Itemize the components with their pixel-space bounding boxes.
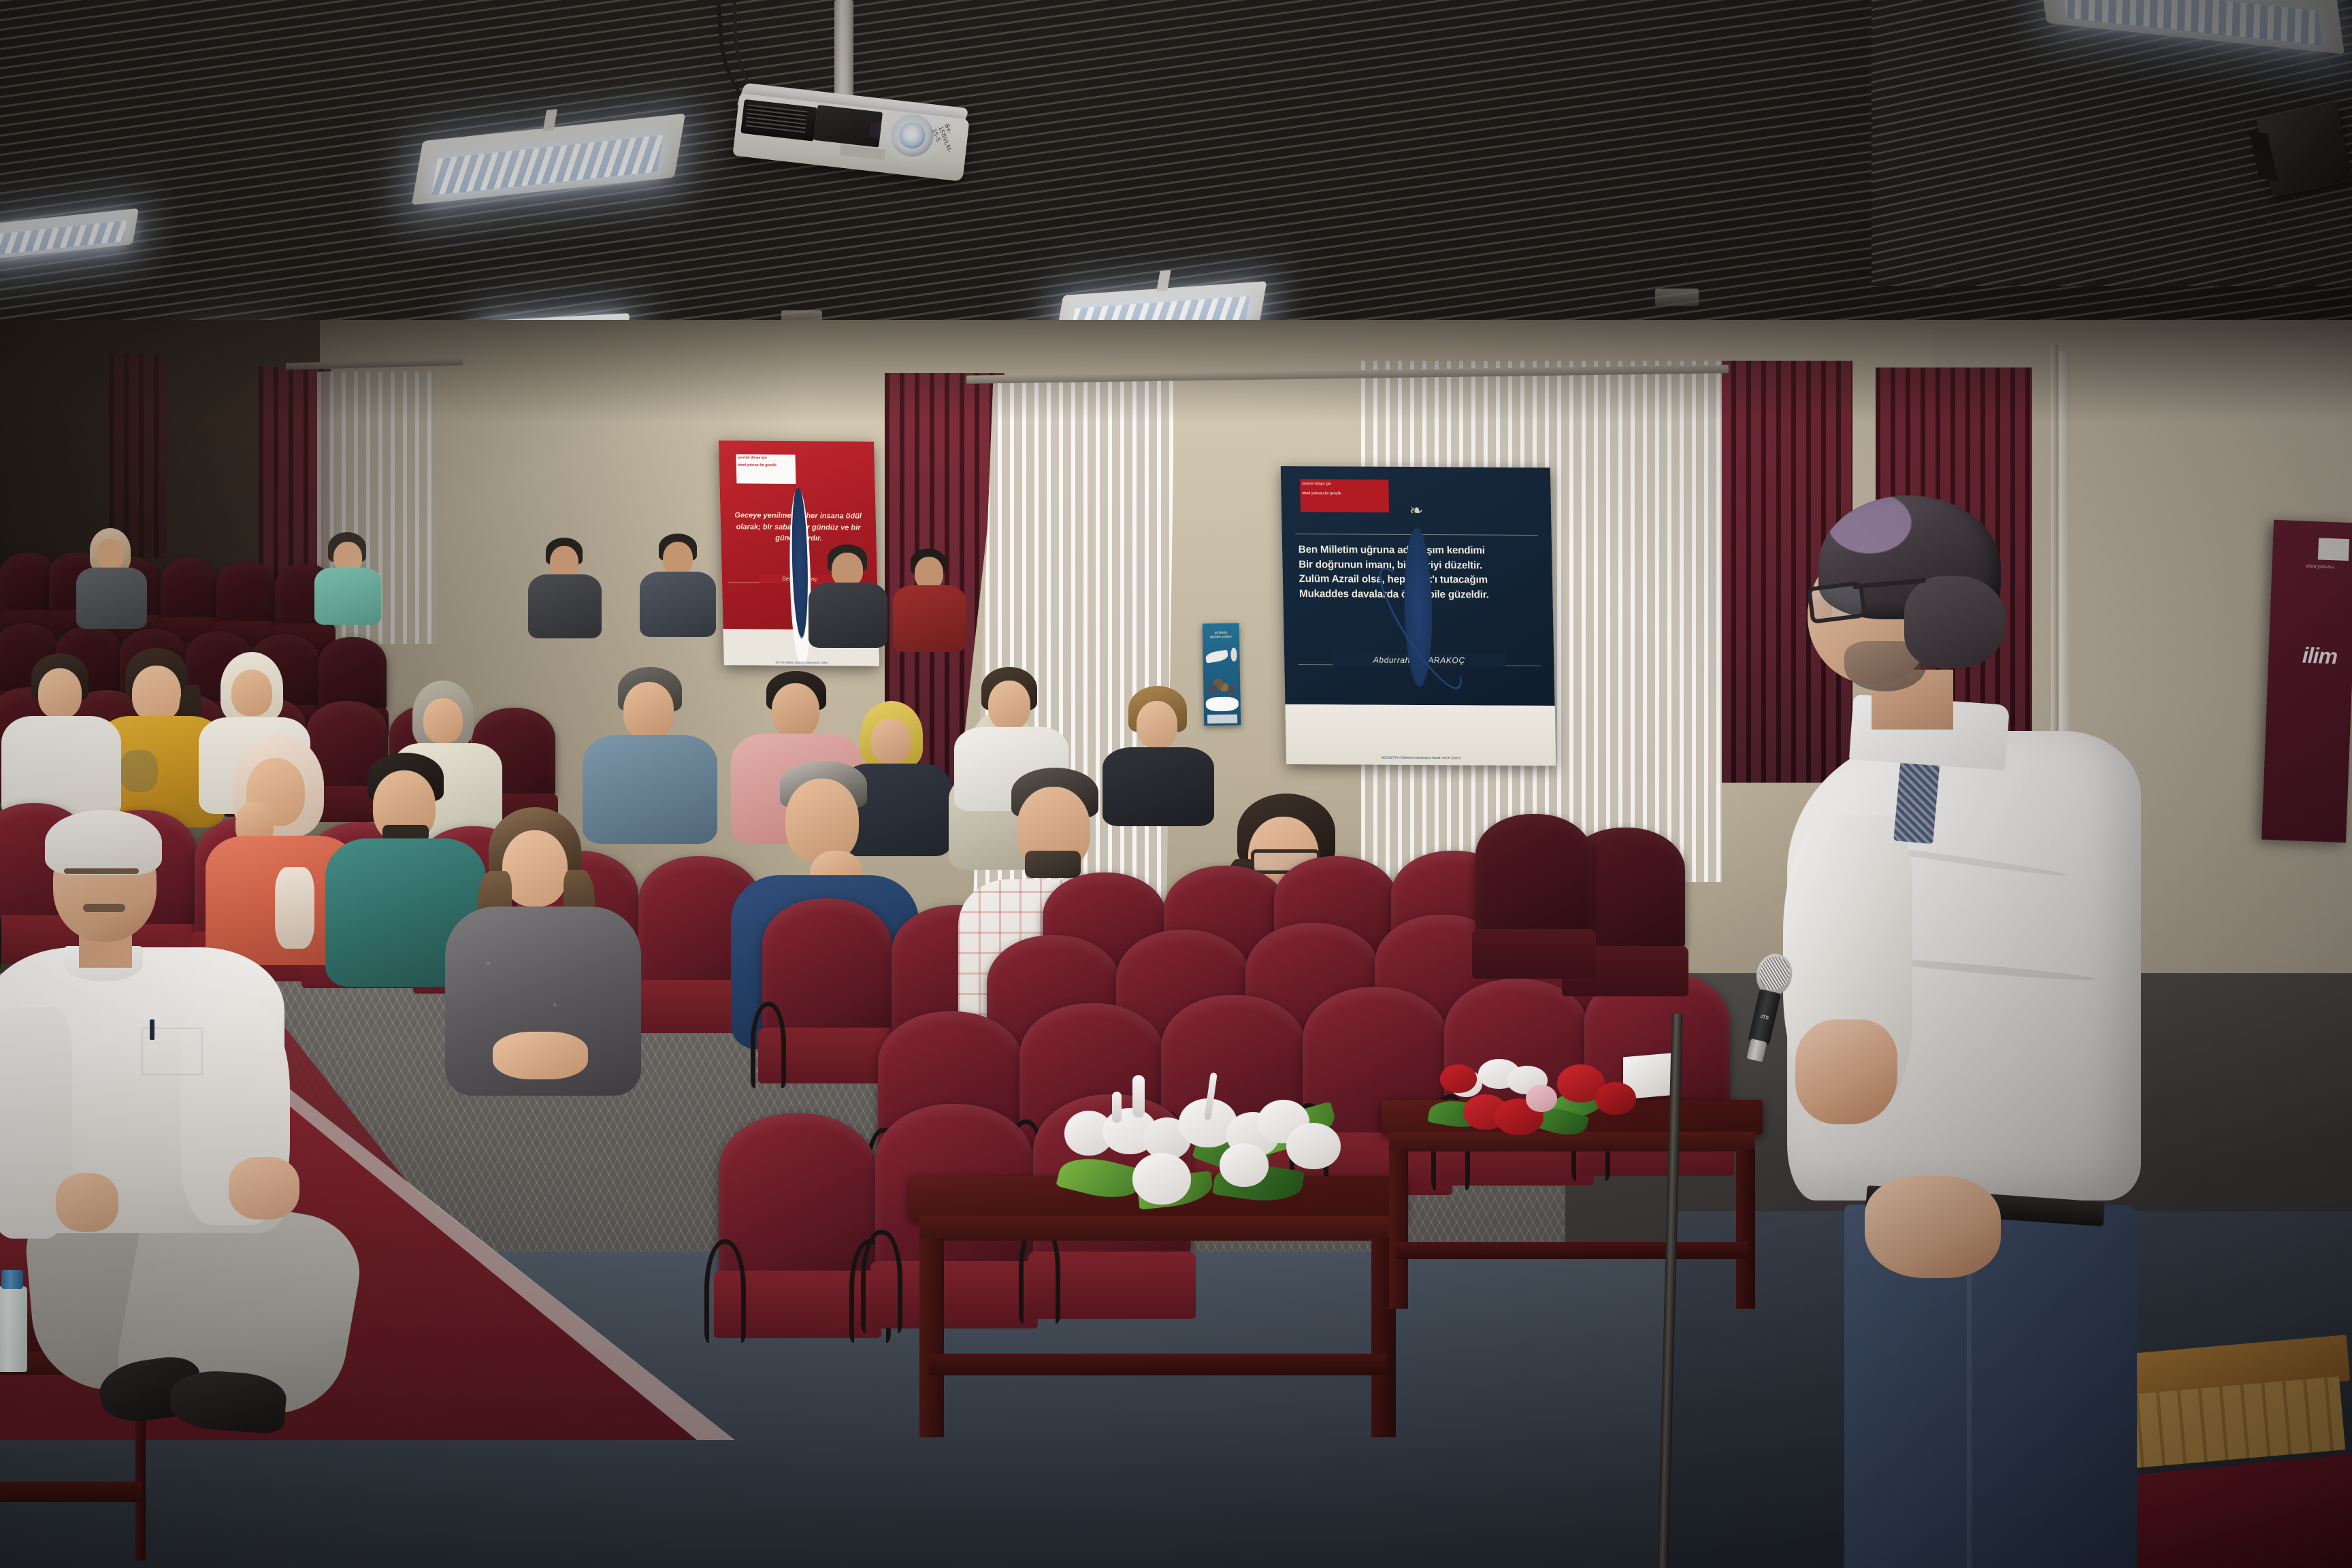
table-shelf: [929, 1354, 1386, 1375]
table-shelf: [0, 1482, 142, 1502]
auditorium-seat[interactable]: [719, 1113, 877, 1338]
wall-top-shadow: [0, 320, 2352, 422]
attendee-back-row-man: [640, 534, 717, 636]
poster-red-footer-org: SEYYİD EDEBALİ ANADOLU İMAM HATİP LİSESİ: [770, 661, 832, 665]
table-shelf: [1396, 1242, 1747, 1259]
banner-tagline: ebed yolcusu: [2306, 564, 2352, 571]
pen-icon: [150, 1019, 154, 1040]
flower-arrangement-white: [1052, 1073, 1345, 1222]
banner-maroon-ilim: ebed yolcusu ilim: [2261, 520, 2352, 843]
flower-arrangement-red: [1424, 1052, 1648, 1154]
attendee-back-row-man-2: [528, 538, 603, 637]
hand-holding-microphone: [1795, 1019, 1897, 1124]
poster-navy-footer-org: NECMETTİN ERBAKAN ANADOLU İMAM HATİP LİS…: [1356, 756, 1486, 761]
poster-red-tagline: yeni bir dünya için ebed yolcusu bir gen…: [736, 454, 796, 483]
flyer-blue-title: yüzlerin gurbet yolları: [1205, 630, 1237, 640]
trouser-crease: [1967, 1244, 1972, 1568]
airplane-icon: [1205, 649, 1229, 663]
auditorium-seat[interactable]: [1475, 814, 1592, 979]
wall-speaker: [2256, 101, 2352, 197]
star-icon: ★: [1414, 591, 1420, 598]
white-hair: [45, 810, 162, 875]
right-hand: [229, 1157, 299, 1220]
left-hand: [1865, 1176, 2001, 1278]
poster-navy-tagline-line2: ebed yolcusu bir gençlik: [1300, 489, 1389, 500]
auditorium-seat[interactable]: [762, 898, 892, 1083]
projector-ir-sensor-icon: [869, 122, 881, 138]
eyebrows: [64, 868, 139, 874]
table-leg: [1389, 1149, 1408, 1309]
table-leg: [919, 1238, 945, 1437]
speaker-presenter: JTS: [1742, 495, 2178, 1568]
poster-navy-abdurrahim-karakoc: yeni bir dünya için ebed yolcusu bir gen…: [1281, 466, 1556, 766]
poster-red-tagline-line2: ebed yolcusu bir gençlik: [736, 462, 796, 470]
seated-man-front-left: [0, 803, 361, 1443]
banner-title: ilim: [2302, 642, 2352, 670]
left-hand: [56, 1173, 118, 1232]
hair-back: [1904, 576, 2006, 668]
microphone-base: [1746, 1039, 1767, 1062]
attendee-red-shirt-man: [892, 549, 968, 651]
attendee-dark-shirt-man: [807, 544, 889, 647]
poster-red-tagline-line1: yeni bir dünya için: [736, 454, 795, 462]
flyer-title-line2: gurbet yolları: [1205, 635, 1237, 640]
hot-air-balloon-icon: [1230, 648, 1237, 661]
conference-hall-photo: Bx-15SVLM-15-5 yeni bir dünya için ebed …: [0, 0, 2352, 1568]
attendee-grey-sparkle-top: [445, 807, 642, 1093]
attendee-headscarf-back: [75, 528, 150, 625]
banner-logo-box: [2318, 538, 2349, 561]
attendee-white-top: [0, 653, 122, 817]
ceiling-vent-icon: [1655, 289, 1699, 306]
attendee-mint-top: [310, 532, 384, 621]
poster-navy-tagline-line1: yeni bir dünya için: [1300, 479, 1389, 489]
moustache: [83, 904, 125, 912]
